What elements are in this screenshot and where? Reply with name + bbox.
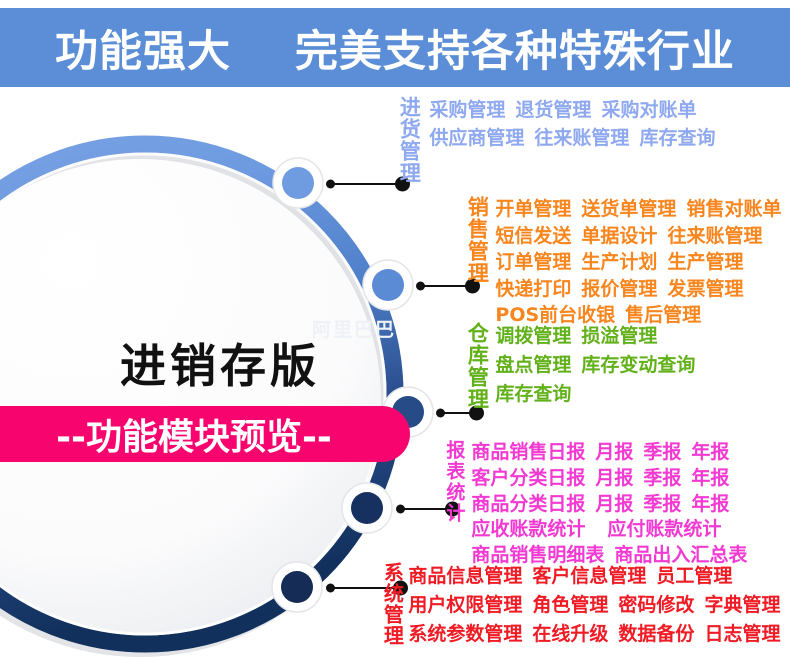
module-item[interactable]: 供应商管理 [429,124,524,152]
section-label-warehouse: 仓库管理 [466,322,487,410]
module-item[interactable]: 采购对账单 [601,96,696,124]
connector-dot-start [396,505,405,514]
section-items-reports: 商品销售日报 月报 季报 年报 客户分类日报 月报 季报 年报 商品分类日报 月… [471,440,747,569]
module-item[interactable]: 月报 [595,466,633,492]
section-sales[interactable]: 销售管理 开单管理 送货单管理 销售对账单 短信发送 单据设计 往来账管理 订单… [466,196,781,329]
section-purchase[interactable]: 进货管理 采购管理 退货管理 采购对账单 供应商管理 往来账管理 库存查询 [398,96,715,184]
module-item[interactable]: 库存变动查询 [581,351,695,380]
module-item[interactable]: 发票管理 [667,276,743,303]
section-warehouse[interactable]: 仓库管理 调拨管理 损溢管理 盘点管理 库存变动查询 库存查询 [466,322,695,410]
module-item[interactable]: 角色管理 [532,591,608,620]
module-item[interactable]: 订单管理 [495,249,571,276]
module-item[interactable]: 生产计划 [581,249,657,276]
ring-node-2 [363,260,413,310]
section-row: 库存查询 [495,380,695,409]
module-item[interactable]: 密码修改 [618,591,694,620]
connector-dot-start [416,282,425,291]
module-item[interactable]: 商品信息管理 [408,562,522,591]
connector-line [330,183,402,185]
module-item[interactable]: 月报 [595,492,633,518]
section-row: 商品销售日报 月报 季报 年报 [471,440,747,466]
section-row: 短信发送 单据设计 往来账管理 [495,223,781,250]
module-item[interactable]: 送货单管理 [581,196,676,223]
section-row: 订单管理 生产计划 生产管理 [495,249,781,276]
ring-node-5 [272,562,322,612]
module-item[interactable]: 盘点管理 [495,351,571,380]
section-row: 用户权限管理 角色管理 密码修改 字典管理 [408,591,780,620]
infographic-canvas: 功能强大 完美支持各种特殊行业 [0,0,790,659]
module-item[interactable]: 数据备份 [618,620,694,649]
connector-dot-start [436,409,445,418]
module-item[interactable]: 采购管理 [429,96,505,124]
section-row: 调拨管理 损溢管理 [495,322,695,351]
section-row: 开单管理 送货单管理 销售对账单 [495,196,781,223]
module-item[interactable]: 月报 [595,440,633,466]
module-item[interactable]: 商品销售日报 [471,440,585,466]
section-items-system: 商品信息管理 客户信息管理 员工管理 用户权限管理 角色管理 密码修改 字典管理… [408,562,780,649]
module-item[interactable]: 季报 [643,492,681,518]
section-label-reports: 报表统计 [444,440,463,524]
section-label-purchase: 进货管理 [398,96,419,184]
module-item[interactable]: 调拨管理 [495,322,571,351]
module-item[interactable]: 快递打印 [495,276,571,303]
section-items-warehouse: 调拨管理 损溢管理 盘点管理 库存变动查询 库存查询 [495,322,695,409]
connector-dot-start [326,584,335,593]
module-item[interactable]: 生产管理 [667,249,743,276]
module-item[interactable]: 员工管理 [656,562,732,591]
section-row: 商品分类日报 月报 季报 年报 [471,492,747,518]
module-item[interactable]: 年报 [691,440,729,466]
module-item[interactable]: 库存查询 [495,380,571,409]
page-title: 进销存版 [60,330,380,396]
module-item[interactable]: 客户信息管理 [532,562,646,591]
module-item[interactable]: 销售对账单 [686,196,781,223]
module-item[interactable]: 开单管理 [495,196,571,223]
module-item[interactable]: 短信发送 [495,223,571,250]
module-item[interactable]: 库存查询 [639,124,715,152]
section-items-purchase: 采购管理 退货管理 采购对账单 供应商管理 往来账管理 库存查询 [429,96,715,152]
module-item[interactable]: 用户权限管理 [408,591,522,620]
module-item[interactable]: 应收账款统计 [471,517,585,543]
section-row: 盘点管理 库存变动查询 [495,351,695,380]
section-reports[interactable]: 报表统计 商品销售日报 月报 季报 年报 客户分类日报 月报 季报 年报 商品分… [444,440,747,569]
section-row: 快递打印 报价管理 发票管理 [495,276,781,303]
subtitle-banner: --功能模块预览-- [0,406,410,462]
module-item[interactable]: 报价管理 [581,276,657,303]
section-items-sales: 开单管理 送货单管理 销售对账单 短信发送 单据设计 往来账管理 订单管理 生产… [495,196,781,329]
section-row: 客户分类日报 月报 季报 年报 [471,466,747,492]
section-row: 采购管理 退货管理 采购对账单 [429,96,715,124]
section-row: 应收账款统计 应付账款统计 [471,517,747,543]
module-item[interactable]: 商品分类日报 [471,492,585,518]
module-item[interactable]: 退货管理 [515,96,591,124]
module-item[interactable]: 年报 [691,492,729,518]
module-item[interactable]: 往来账管理 [667,223,762,250]
section-row: 供应商管理 往来账管理 库存查询 [429,124,715,152]
ring-node-1 [273,158,323,208]
module-item[interactable]: 字典管理 [704,591,780,620]
connector-dot-start [326,180,335,189]
module-item[interactable]: 客户分类日报 [471,466,585,492]
subtitle-text: --功能模块预览-- [56,408,332,460]
module-item[interactable]: 往来账管理 [534,124,629,152]
module-item[interactable]: 季报 [643,440,681,466]
module-item[interactable]: 日志管理 [704,620,780,649]
module-item[interactable]: 单据设计 [581,223,657,250]
module-item[interactable]: 系统参数管理 [408,620,522,649]
section-system[interactable]: 系统管理 商品信息管理 客户信息管理 员工管理 用户权限管理 角色管理 密码修改… [382,562,780,649]
section-label-system: 系统管理 [382,562,402,646]
module-item[interactable]: 损溢管理 [581,322,657,351]
module-item[interactable]: 应付账款统计 [607,517,721,543]
module-item[interactable]: 年报 [691,466,729,492]
section-row: 系统参数管理 在线升级 数据备份 日志管理 [408,620,780,649]
section-row: 商品信息管理 客户信息管理 员工管理 [408,562,780,591]
module-item[interactable]: 季报 [643,466,681,492]
section-label-sales: 销售管理 [466,196,487,284]
module-item[interactable]: 在线升级 [532,620,608,649]
ring-node-4 [342,483,392,533]
